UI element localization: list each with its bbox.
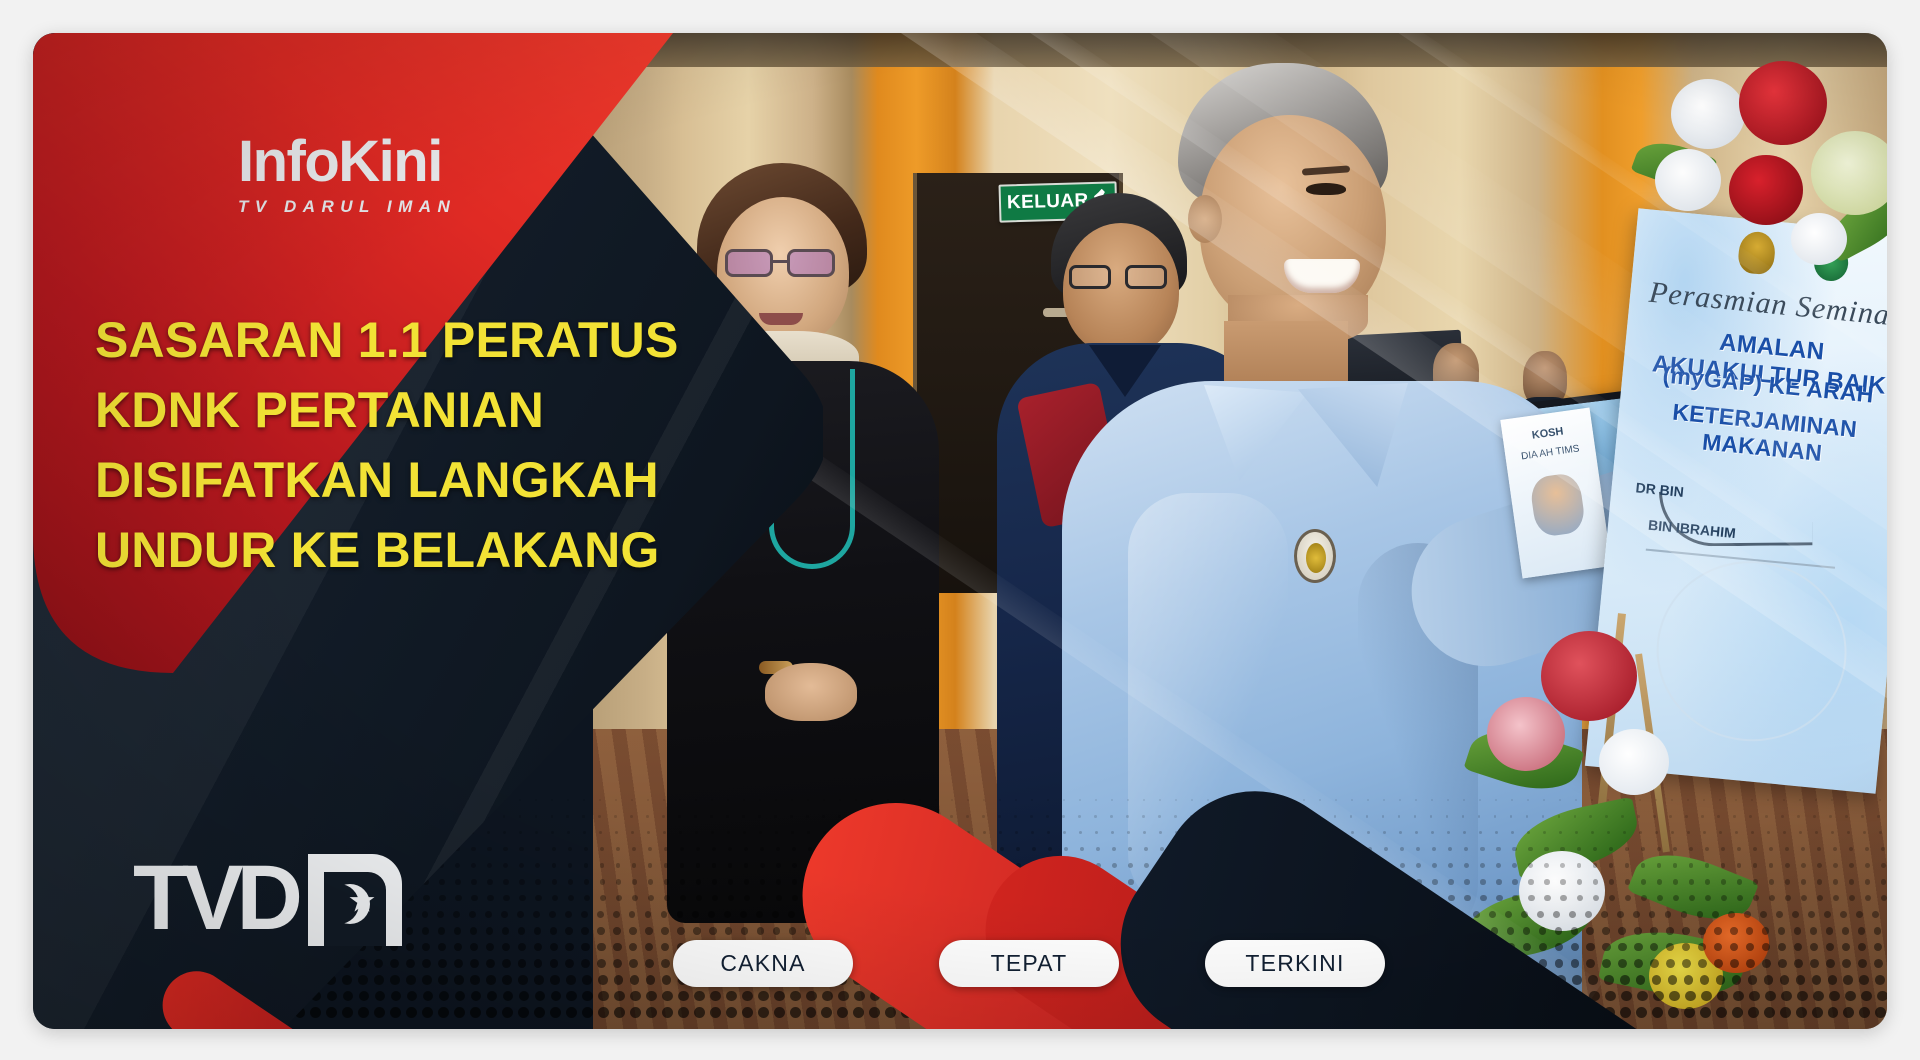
poster-signature-area: [1646, 461, 1844, 569]
news-graphic-card: KELUAR Seminar AMALAN AKUAKULTUR (myGAP)…: [33, 33, 1887, 1029]
badge-terkini[interactable]: TERKINI: [1205, 940, 1385, 987]
poster-signatory-name-1: DR BIN: [1635, 479, 1685, 500]
ear: [1188, 195, 1222, 243]
eyeglasses-icon: [725, 249, 843, 279]
tvd-station-logo: TVD: [133, 848, 403, 948]
badge-cakna[interactable]: CAKNA: [673, 940, 853, 987]
held-card-line-2: DIA AH TIMS: [1505, 441, 1596, 464]
crescent-moon-icon: [319, 884, 359, 924]
headline: SASARAN 1.1 PERATUS KDNK PERTANIAN DISIF…: [95, 305, 655, 585]
shirt-highlight: [1128, 493, 1288, 913]
clasped-hands: [765, 663, 857, 721]
flower-arrangement-bottom: [1453, 613, 1783, 1013]
eye: [1306, 183, 1346, 195]
logo-wordmark: InfoKini: [238, 133, 456, 191]
tvd-letters: TVD: [133, 852, 296, 944]
tagline-badges: CAKNA TEPAT TERKINI: [673, 940, 1385, 987]
uniform-crest-badge: [1294, 529, 1336, 583]
logo-subtitle: TV DARUL IMAN: [238, 197, 456, 217]
mouth: [759, 313, 803, 325]
headline-line-4: UNDUR KE BELAKANG: [95, 515, 655, 585]
flower-arrangement-top: [1625, 53, 1887, 283]
headline-line-2: KDNK PERTANIAN: [95, 375, 655, 445]
badge-tepat[interactable]: TEPAT: [939, 940, 1119, 987]
held-card-portrait: [1529, 472, 1587, 538]
headline-line-3: DISIFATKAN LANGKAH: [95, 445, 655, 515]
headline-line-1: SASARAN 1.1 PERATUS: [95, 305, 655, 375]
infokini-logo: InfoKini TV DARUL IMAN: [238, 133, 456, 217]
